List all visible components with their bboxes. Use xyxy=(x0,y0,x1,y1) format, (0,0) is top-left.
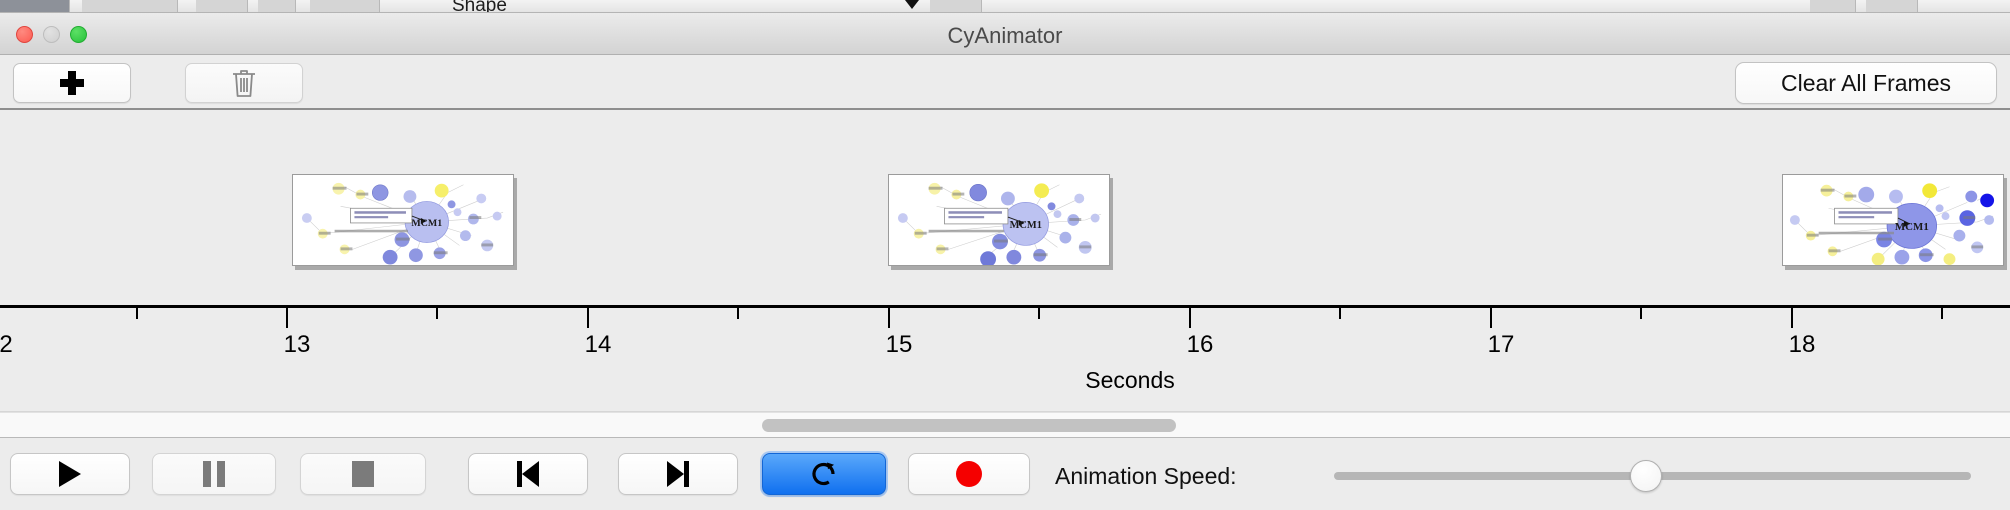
pause-icon xyxy=(203,461,225,487)
ruler-major-tick xyxy=(1791,308,1793,328)
ruler-major-tick xyxy=(1490,308,1492,328)
play-button[interactable] xyxy=(10,453,130,495)
ruler-minor-tick xyxy=(737,308,739,319)
frame-toolbar: Clear All Frames xyxy=(0,55,2010,110)
skip-forward-button[interactable] xyxy=(618,453,738,495)
ruler-tick-label: 16 xyxy=(1187,331,1214,359)
timeline-frame-thumbnail[interactable]: MCM1 xyxy=(888,174,1110,266)
pause-button[interactable] xyxy=(152,453,276,495)
timeline-ruler[interactable]: 2 13 14 15 16 17 18 xyxy=(0,305,2010,411)
play-icon xyxy=(59,461,81,487)
ruler-minor-tick xyxy=(136,308,138,319)
timeline-frame-thumbnail[interactable]: MCM1 xyxy=(1782,174,2004,266)
cyanimator-window: Shape CyAnimator Clear All Frames xyxy=(0,0,2010,510)
ruler-tick-label: 18 xyxy=(1789,331,1816,359)
ruler-minor-tick xyxy=(1640,308,1642,319)
ruler-tick-label: 14 xyxy=(585,331,612,359)
background-window-strip: Shape xyxy=(0,0,2010,13)
ruler-minor-tick xyxy=(1038,308,1040,319)
scrollbar-thumb[interactable] xyxy=(762,419,1176,432)
ruler-major-tick xyxy=(286,308,288,328)
timeline-horizontal-scrollbar[interactable] xyxy=(0,412,2010,438)
ruler-major-tick xyxy=(888,308,890,328)
loop-button[interactable] xyxy=(762,453,886,495)
ruler-minor-tick xyxy=(1941,308,1943,319)
animation-speed-slider[interactable] xyxy=(1334,472,1971,480)
trash-icon xyxy=(231,68,257,98)
clear-all-frames-button[interactable]: Clear All Frames xyxy=(1735,62,1997,104)
background-menu-label: Shape xyxy=(452,0,507,13)
svg-text:MCM1: MCM1 xyxy=(1010,220,1042,231)
skip-back-icon xyxy=(517,461,539,487)
timeline-axis-label: Seconds xyxy=(960,367,1300,394)
plus-icon xyxy=(60,71,84,95)
timeline-panel[interactable]: MCM1 xyxy=(0,112,2010,412)
title-bar: CyAnimator xyxy=(0,13,2010,55)
ruler-tick-label: 13 xyxy=(284,331,311,359)
window-title: CyAnimator xyxy=(0,23,2010,49)
stop-icon xyxy=(352,461,374,487)
record-button[interactable] xyxy=(908,453,1030,495)
loop-icon xyxy=(809,459,839,489)
stop-button[interactable] xyxy=(300,453,426,495)
svg-text:MCM1: MCM1 xyxy=(411,218,442,229)
delete-frame-button[interactable] xyxy=(185,63,303,103)
skip-forward-icon xyxy=(667,461,689,487)
add-frame-button[interactable] xyxy=(13,63,131,103)
animation-speed-label: Animation Speed: xyxy=(1055,463,1237,490)
skip-backward-button[interactable] xyxy=(468,453,588,495)
playback-control-bar: Animation Speed: xyxy=(0,439,2010,510)
svg-text:MCM1: MCM1 xyxy=(1895,221,1929,233)
ruler-major-tick xyxy=(587,308,589,328)
ruler-tick-label: 15 xyxy=(886,331,913,359)
slider-thumb[interactable] xyxy=(1630,460,1662,492)
ruler-major-tick xyxy=(1189,308,1191,328)
ruler-minor-tick xyxy=(1339,308,1341,319)
ruler-tick-label: 17 xyxy=(1488,331,1515,359)
background-caret-icon xyxy=(905,0,919,9)
ruler-axis-line xyxy=(0,305,2010,308)
timeline-frame-thumbnail[interactable]: MCM1 xyxy=(292,174,514,266)
ruler-tick-label: 2 xyxy=(0,331,13,359)
ruler-minor-tick xyxy=(436,308,438,319)
record-icon xyxy=(956,461,982,487)
clear-all-frames-label: Clear All Frames xyxy=(1781,70,1951,97)
